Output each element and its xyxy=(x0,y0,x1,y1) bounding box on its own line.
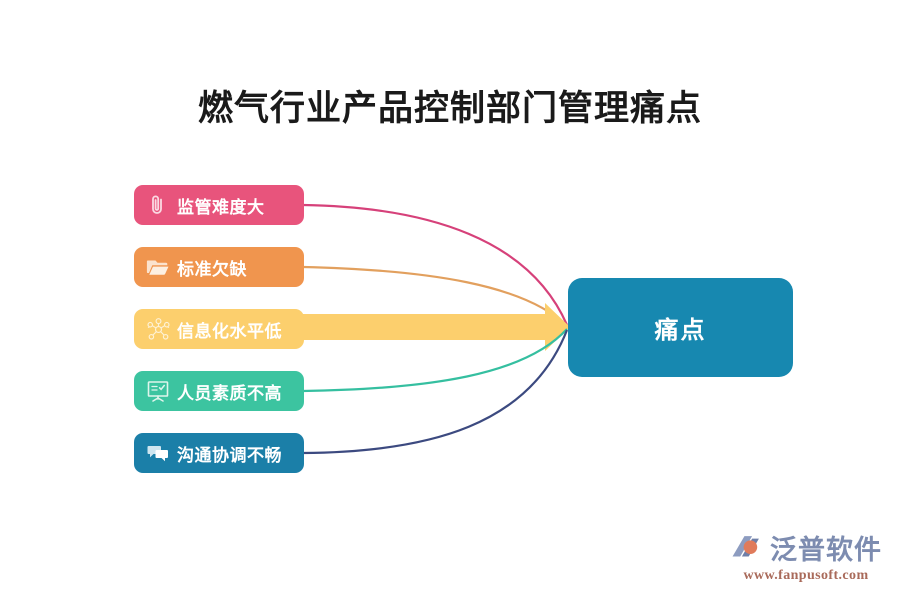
center-node[interactable]: 痛点 xyxy=(568,278,793,377)
pain-point-item-2[interactable]: 信息化水平低 xyxy=(134,309,304,349)
chat-bubbles-icon xyxy=(145,440,171,466)
network-icon xyxy=(145,316,171,342)
pain-point-item-1[interactable]: 标准欠缺 xyxy=(134,247,304,287)
center-node-label: 痛点 xyxy=(655,310,707,345)
logo-url: www.fanpusoft.com xyxy=(743,568,868,584)
pain-point-label-3: 人员素质不高 xyxy=(177,379,282,404)
pain-point-item-0[interactable]: 监管难度大 xyxy=(134,185,304,225)
brand-logo: 泛普软件 www.fanpusoft.com xyxy=(730,528,882,584)
pain-point-item-3[interactable]: 人员素质不高 xyxy=(134,371,304,411)
connector-arrow-2 xyxy=(298,303,570,351)
pain-point-item-4[interactable]: 沟通协调不畅 xyxy=(134,433,304,473)
presentation-board-icon xyxy=(145,378,171,404)
folder-icon xyxy=(145,254,171,280)
connector-line-3 xyxy=(303,329,567,391)
diagram-canvas: 燃气行业产品控制部门管理痛点 监管难度大 标准欠缺 xyxy=(0,0,900,600)
connector-line-0 xyxy=(303,205,567,325)
pain-point-label-0: 监管难度大 xyxy=(177,193,265,218)
fanpu-logo-icon xyxy=(730,531,764,565)
pain-point-label-2: 信息化水平低 xyxy=(177,317,282,342)
logo-name: 泛普软件 xyxy=(770,528,882,567)
page-title: 燃气行业产品控制部门管理痛点 xyxy=(0,80,900,131)
connector-line-4 xyxy=(303,330,567,453)
connector-line-1 xyxy=(303,267,567,326)
pain-point-label-4: 沟通协调不畅 xyxy=(177,441,282,466)
pain-point-label-1: 标准欠缺 xyxy=(177,255,247,280)
logo-row: 泛普软件 xyxy=(730,528,882,567)
paperclip-icon xyxy=(145,192,171,218)
